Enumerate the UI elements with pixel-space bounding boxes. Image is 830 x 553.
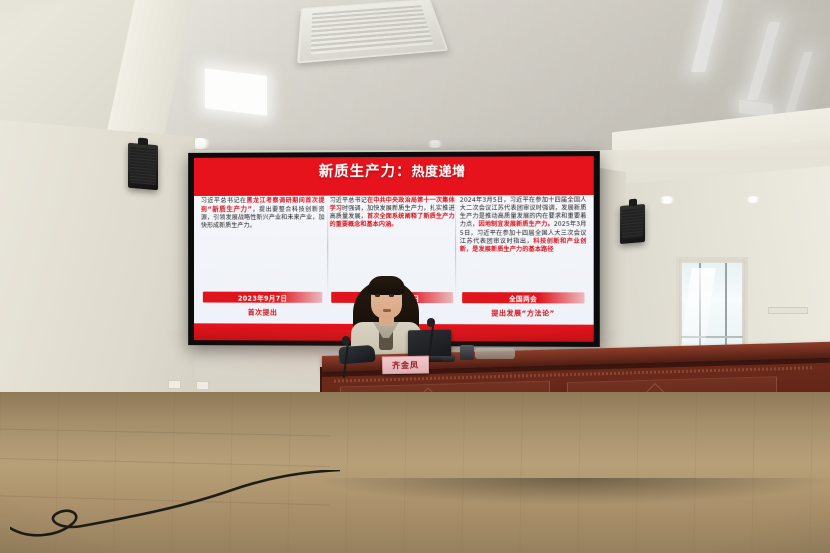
wall-sign-plate (768, 307, 808, 314)
desk-shadow (318, 478, 830, 504)
mouth (383, 309, 391, 312)
slide-column-3-body: 2024年3月5日，习近平在参加十四届全国人大二次会议江苏代表团审议时强调，发展… (460, 197, 587, 255)
slide-title-sub: 热度递增 (411, 165, 465, 180)
slide-title-main: 新质生产力： (319, 164, 412, 180)
slide-column-3: 2024年3月5日，习近平在参加十四届全国人大二次会议江苏代表团审议时强调，发展… (460, 197, 587, 322)
cup-on-desk (460, 345, 474, 360)
slide-caption-1: 首次提出 (201, 307, 325, 317)
col2-text-a: 习近平总书记 (330, 197, 367, 204)
col3-text-b: 因地制宜发展新质生产力。 (479, 221, 554, 228)
col1-text-c: “新质生产力” (207, 205, 251, 213)
ceiling-panel-light (205, 68, 267, 116)
ceiling-downlight (426, 140, 444, 148)
wall-outlet (196, 381, 209, 390)
ac-vent-slats (311, 5, 434, 54)
recessed-downlight (658, 196, 676, 204)
microphone-head (427, 318, 435, 327)
hair-fringe (368, 276, 405, 295)
eye-left (375, 294, 380, 297)
slide-divider-1 (327, 197, 328, 297)
col1-text-a: 习近平总书记在 (201, 197, 247, 204)
desk-nameplate: 齐金凤 (382, 356, 429, 375)
ac-vent-icon (297, 0, 448, 63)
slide-caption-3: 提出发展“方法论” (460, 308, 587, 318)
wall-speaker-left (128, 143, 158, 191)
ceiling-panel-light (691, 0, 723, 72)
wall-outlet (168, 380, 181, 389)
ceiling-panel-light (747, 22, 780, 100)
slide-column-2-body: 习近平总书记在中共中央政治局第十一次集体学习时强调，加快发展新质生产力，扎实推进… (330, 197, 455, 230)
microphone-head (342, 336, 350, 345)
slide-column-1-body: 习近平总书记在黑龙江考察调研期间首次提到“新质生产力”，提出要整合科技创新资源，… (201, 197, 325, 231)
slide-divider-2 (455, 197, 456, 297)
eye-right (389, 294, 394, 297)
slide-date-chip-3: 全国两会 (462, 292, 585, 303)
slide-date-chip-1: 2023年9月7日 (203, 292, 323, 303)
desk-nameplate-text: 齐金凤 (392, 359, 419, 370)
microphone (430, 318, 433, 358)
conference-room-photo: 新质生产力：热度递增 习近平总书记在黑龙江考察调研期间首次提到“新质生产力”，提… (0, 0, 830, 553)
speaker-bracket (138, 138, 148, 146)
speaker-grille (130, 146, 156, 185)
microphone-secondary (345, 336, 348, 362)
floor (0, 392, 830, 553)
slide-title: 新质生产力：热度递增 (194, 159, 594, 181)
speaker-bracket (629, 199, 637, 207)
wall-speaker-right (620, 204, 645, 244)
papers-on-desk (475, 348, 515, 359)
recessed-downlight (745, 196, 761, 203)
slide-column-1: 习近平总书记在黑龙江考察调研期间首次提到“新质生产力”，提出要整合科技创新资源，… (201, 197, 325, 321)
speaker-grille (622, 207, 643, 239)
